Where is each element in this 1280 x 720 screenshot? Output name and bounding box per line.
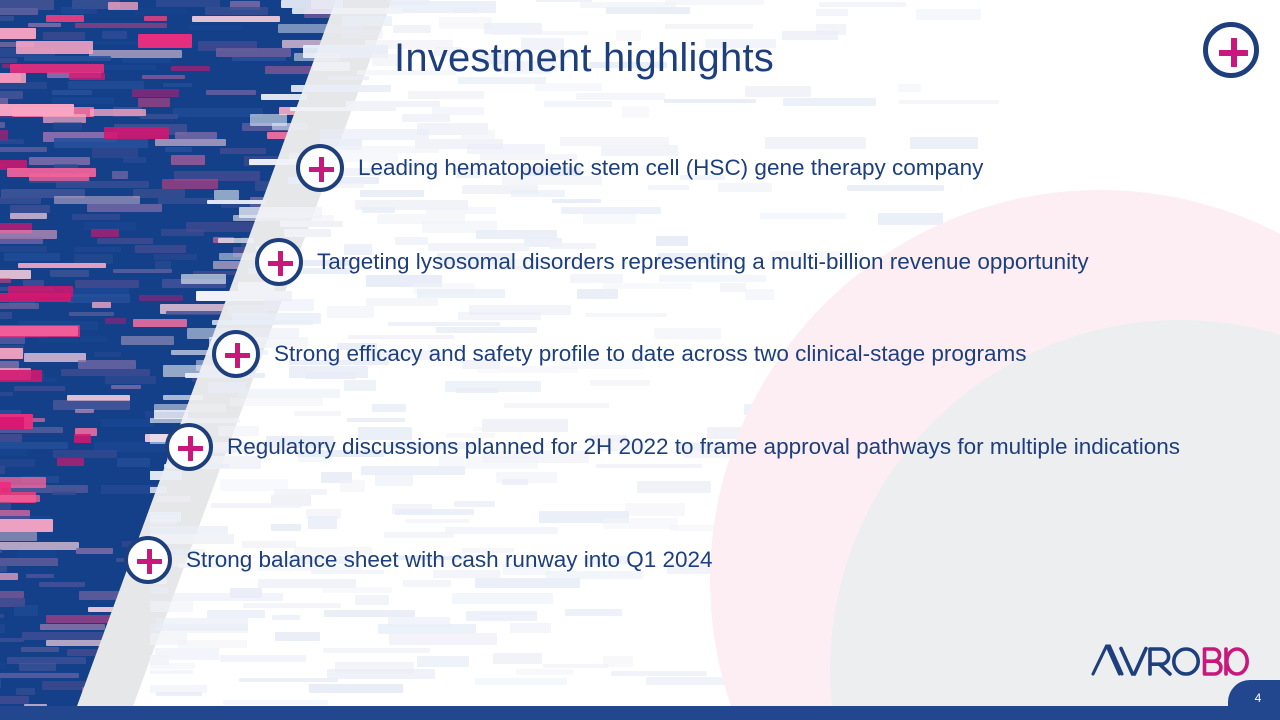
page-number-badge: 4 — [1228, 680, 1280, 720]
plus-in-circle-icon — [296, 144, 344, 192]
list-item: Strong efficacy and safety profile to da… — [212, 330, 1026, 378]
list-item: Targeting lysosomal disorders representi… — [255, 238, 1089, 286]
page-title: Investment highlights — [394, 36, 774, 81]
list-item: Regulatory discussions planned for 2H 20… — [165, 423, 1255, 471]
list-item-label: Targeting lysosomal disorders representi… — [317, 244, 1089, 280]
list-item-label: Strong efficacy and safety profile to da… — [274, 336, 1026, 372]
plus-in-circle-icon — [165, 423, 213, 471]
list-item: Leading hematopoietic stem cell (HSC) ge… — [296, 144, 983, 192]
plus-in-circle-icon — [212, 330, 260, 378]
avrobio-logo — [1091, 640, 1249, 680]
plus-in-circle-icon — [124, 536, 172, 584]
plus-in-circle-icon — [1203, 22, 1259, 78]
plus-in-circle-icon — [255, 238, 303, 286]
list-item-label: Strong balance sheet with cash runway in… — [186, 542, 713, 578]
list-item-label: Leading hematopoietic stem cell (HSC) ge… — [358, 150, 983, 186]
list-item: Strong balance sheet with cash runway in… — [124, 536, 713, 584]
avrobio-logo-mark — [1091, 640, 1249, 680]
list-item-label: Regulatory discussions planned for 2H 20… — [227, 429, 1237, 465]
footer-bar — [0, 706, 1280, 720]
presentation-slide: Investment highlights Leading hematopoie… — [0, 0, 1280, 720]
